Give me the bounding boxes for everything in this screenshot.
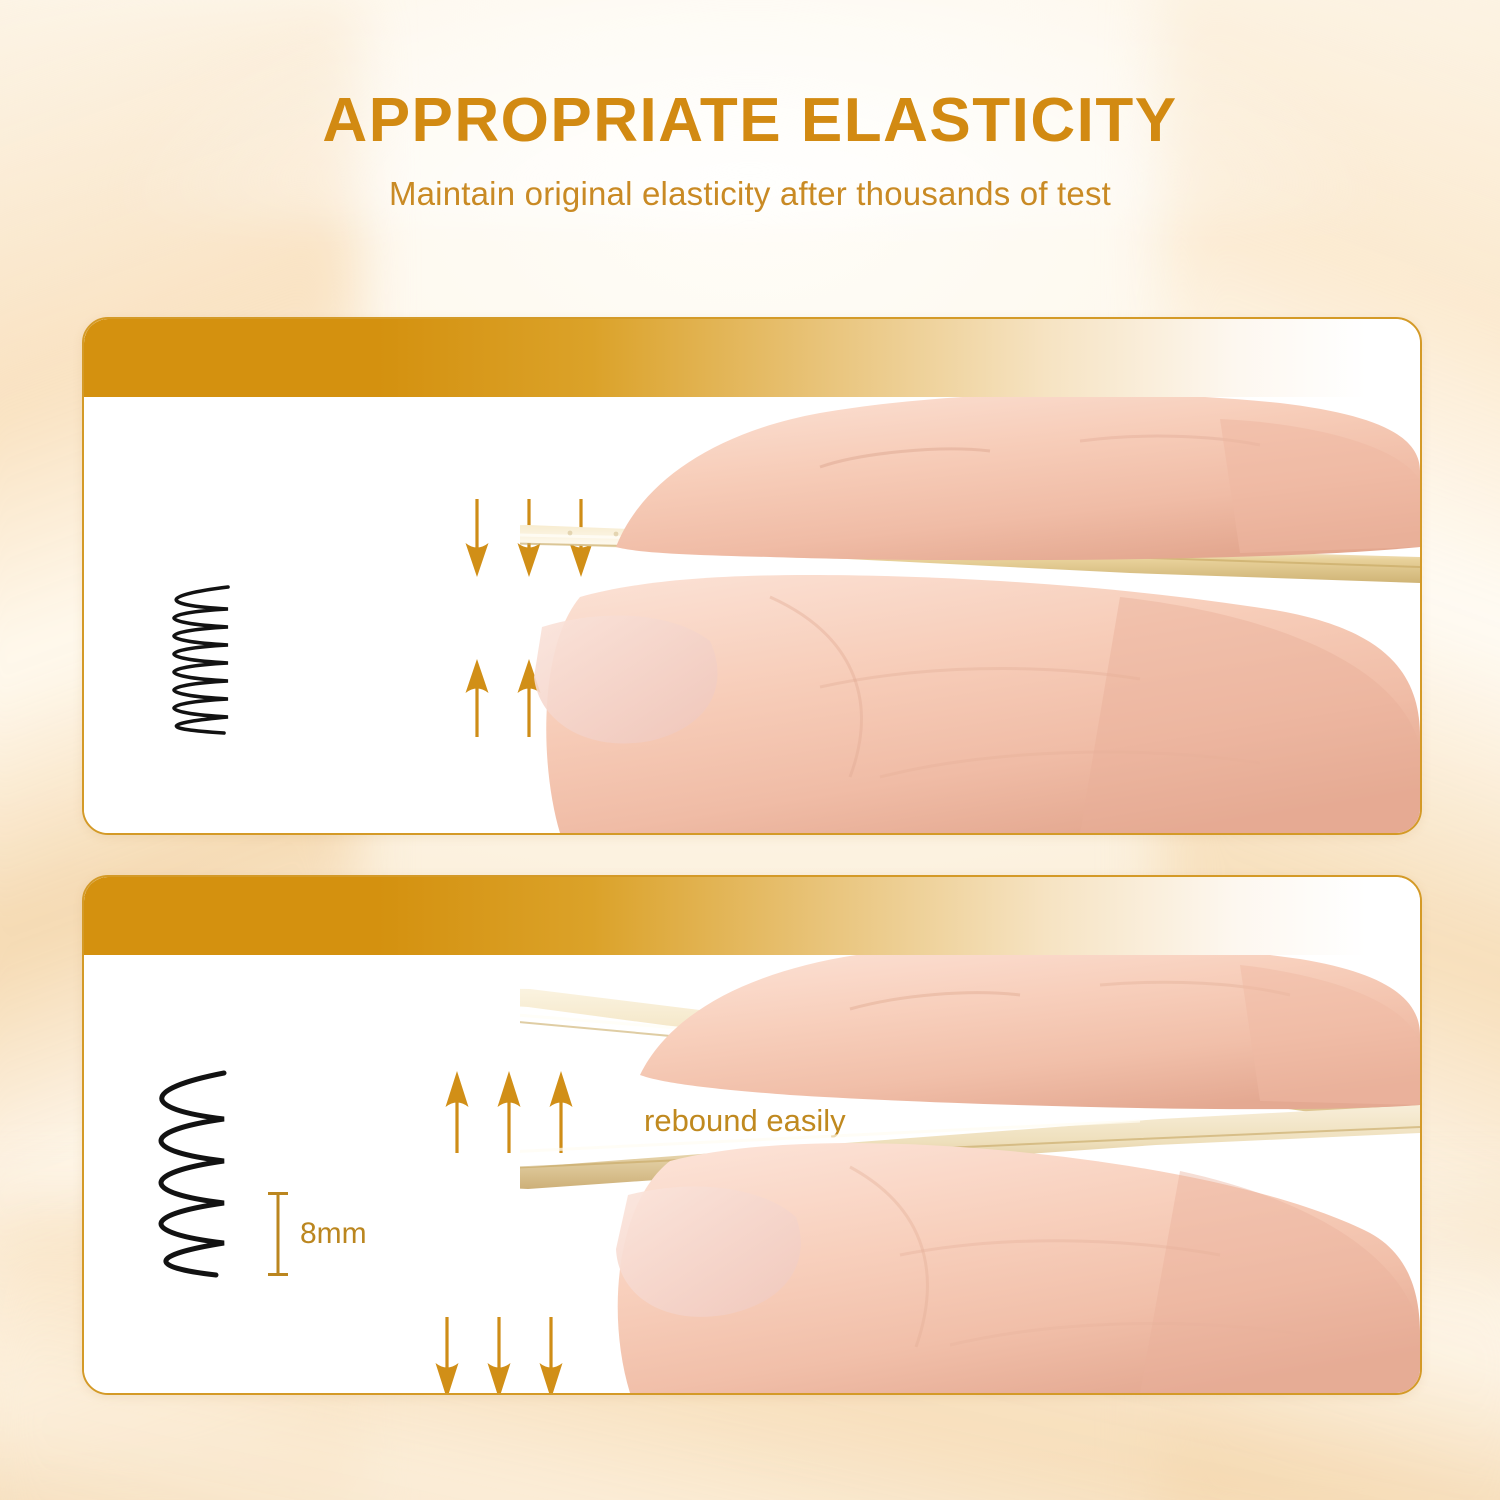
- photo-hand-squeezing-tweezers: [520, 397, 1420, 833]
- infographic-canvas: APPROPRIATE ELASTICITY Maintain original…: [0, 0, 1500, 1500]
- arrow-down-icon: [434, 1317, 460, 1395]
- arrow-down-icon: [486, 1317, 512, 1395]
- arrow-up-icon: [444, 1071, 470, 1153]
- i-beam-dimension-icon: [266, 1191, 290, 1277]
- page-subtitle: Maintain original elasticity after thous…: [0, 175, 1500, 213]
- dimension-value: 8mm: [300, 1217, 367, 1251]
- panel-label-bar-low-resistance: [84, 319, 1420, 397]
- hand: [616, 955, 1420, 1393]
- photo-hand-holding-open-tweezers: [520, 955, 1420, 1393]
- panel-low-resistance: Low Resistance: [82, 317, 1422, 835]
- arrow-up-icon: [496, 1071, 522, 1153]
- panel-high-elasticity: High Elasticity: [82, 875, 1422, 1395]
- dimension-8mm: 8mm: [266, 1191, 367, 1277]
- compressed-coil-spring-icon: [132, 579, 252, 744]
- hand: [534, 397, 1420, 833]
- panel-label-bar-high-elasticity: [84, 877, 1420, 955]
- arrow-up-icon: [464, 659, 490, 737]
- arrow-down-icon: [464, 499, 490, 577]
- extended-coil-spring-icon: [120, 1069, 260, 1284]
- panel-body-high-elasticity: rebound easily 8mm: [84, 955, 1420, 1393]
- panel-body-low-resistance: [84, 397, 1420, 833]
- page-title: APPROPRIATE ELASTICITY: [0, 88, 1500, 153]
- header: APPROPRIATE ELASTICITY Maintain original…: [0, 88, 1500, 213]
